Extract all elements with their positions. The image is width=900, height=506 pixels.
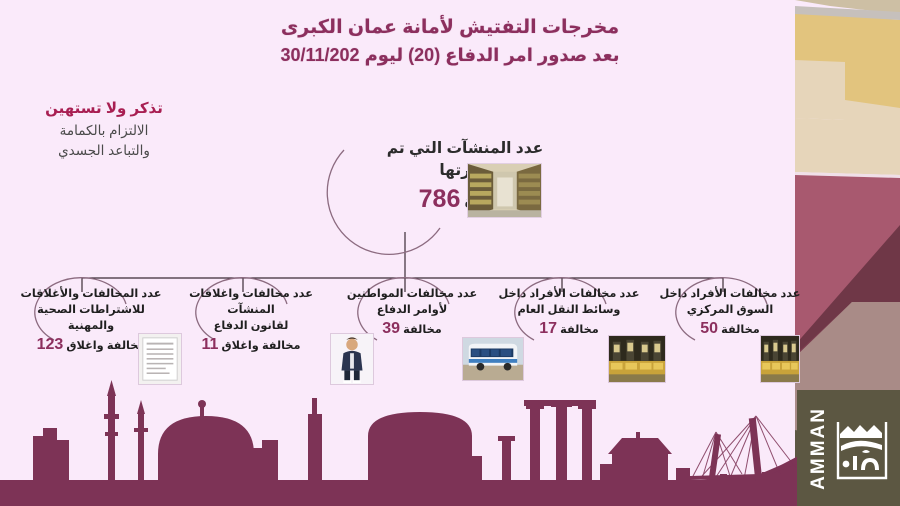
title-line-2: بعد صدور امر الدفاع (20) ليوم 30/11/202 bbox=[0, 42, 900, 68]
branch-label-line-2: لأوامر الدفاع bbox=[337, 302, 487, 318]
infographic-slide: مخرجات التفتيش لأمانة عمان الكبرى بعد صد… bbox=[0, 0, 900, 506]
supermarket-aisle-photo bbox=[467, 163, 542, 218]
branch-value: 50 bbox=[700, 320, 718, 337]
branch-node-public-transport-violations: عدد مخالفات الأفراد داخلوسائط النقل العا… bbox=[494, 286, 644, 341]
branch-label-line-1: عدد مخالفات المواطنين bbox=[337, 286, 487, 302]
branch-unit: مخالفة واغلاق bbox=[222, 340, 301, 352]
reminder-headline: تذكر ولا تستهين bbox=[20, 98, 188, 121]
reminder-line-1: الالتزام بالكمامة bbox=[20, 121, 188, 141]
branch-value: 17 bbox=[539, 320, 557, 337]
branch-label-line-2: السوق المركزي bbox=[655, 302, 805, 318]
logo-wordmark: AMMAN bbox=[808, 407, 830, 490]
title-line-1: مخرجات التفتيش لأمانة عمان الكبرى bbox=[0, 14, 900, 42]
branch-label-line-2: وسائط النقل العام bbox=[494, 302, 644, 318]
branch-label-line-2: للاشتراطات الصحية والمهنية bbox=[16, 302, 166, 334]
branch-label-line-1: عدد مخالفات واغلاقات المنشآت bbox=[176, 286, 326, 318]
amman-logo-block: AMMAN bbox=[797, 390, 900, 506]
branch-node-central-market-violations: عدد مخالفات الأفراد داخلالسوق المركزيمخا… bbox=[655, 286, 805, 341]
amman-city-emblem bbox=[834, 412, 890, 484]
branch-label-line-1: عدد مخالفات الأفراد داخل bbox=[494, 286, 644, 302]
branch-node-establishment-defense-law-violations: عدد مخالفات واغلاقات المنشآتلقانون الدفا… bbox=[176, 286, 326, 357]
branch-unit: مخالفة واغلاق bbox=[66, 340, 145, 352]
page-title: مخرجات التفتيش لأمانة عمان الكبرى بعد صد… bbox=[0, 14, 900, 68]
branch-value-row: مخالفة واغلاق 11 bbox=[176, 334, 326, 357]
branch-label-line-1: عدد مخالفات الأفراد داخل bbox=[655, 286, 805, 302]
branch-unit: مخالفة bbox=[721, 324, 760, 336]
branch-label-line-2: لقانون الدفاع bbox=[176, 318, 326, 334]
branch-value: 11 bbox=[201, 336, 218, 353]
branch-unit: مخالفة bbox=[403, 324, 442, 336]
branch-value: 123 bbox=[37, 336, 64, 353]
city-bus-photo bbox=[462, 337, 524, 381]
reminder-note: تذكر ولا تستهين الالتزام بالكمامة والتبا… bbox=[20, 98, 188, 161]
branch-node-citizen-defense-orders-violations: عدد مخالفات المواطنينلأوامر الدفاعمخالفة… bbox=[337, 286, 487, 341]
reminder-line-2: والتباعد الجسدي bbox=[20, 141, 188, 161]
root-value: 786 bbox=[419, 185, 461, 213]
branch-value: 39 bbox=[382, 320, 400, 337]
branch-label-line-1: عدد المخالفات والأغلاقات bbox=[16, 286, 166, 302]
branch-unit: مخالفة bbox=[560, 324, 599, 336]
amman-skyline-silhouette bbox=[0, 376, 802, 506]
root-label-line-1: عدد المنشآت التي تم bbox=[385, 138, 545, 160]
